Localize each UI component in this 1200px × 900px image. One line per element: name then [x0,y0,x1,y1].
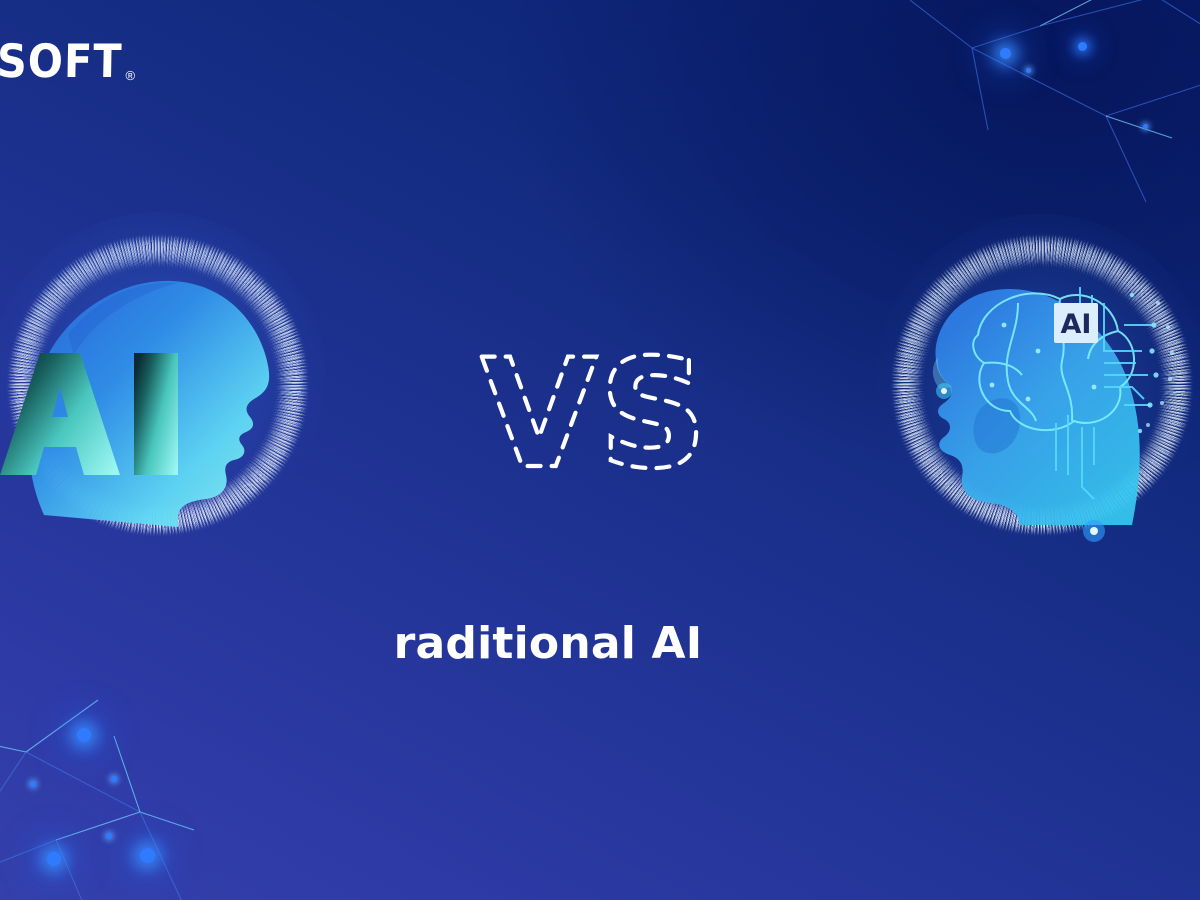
network-node [30,781,36,787]
slide-canvas: ZSOFT ® [0,0,1200,900]
brain-circuit-head-icon: AI [832,175,1200,595]
network-node [111,776,117,782]
generative-ai-graphic: AI [832,175,1200,595]
generative-ai-label: Generative AI [848,622,1200,666]
registered-trademark-icon: ® [126,69,136,82]
network-node [1026,68,1031,73]
brand-logo[interactable]: ZSOFT ® [0,36,135,84]
network-node [77,728,91,742]
vs-separator: VS [455,330,735,510]
brand-logo-text: ZSOFT [0,38,123,84]
network-node [106,833,112,839]
traditional-ai-graphic [0,175,368,595]
network-node [1078,42,1087,51]
network-node [140,848,155,863]
network-node [47,852,61,866]
ai-head-silhouette-icon [0,175,368,595]
ai-chip: AI [1054,303,1098,343]
vs-separator-text: VS [481,330,709,502]
svg-text:AI: AI [1061,309,1092,340]
network-node [1000,48,1011,59]
network-node [1143,124,1148,129]
